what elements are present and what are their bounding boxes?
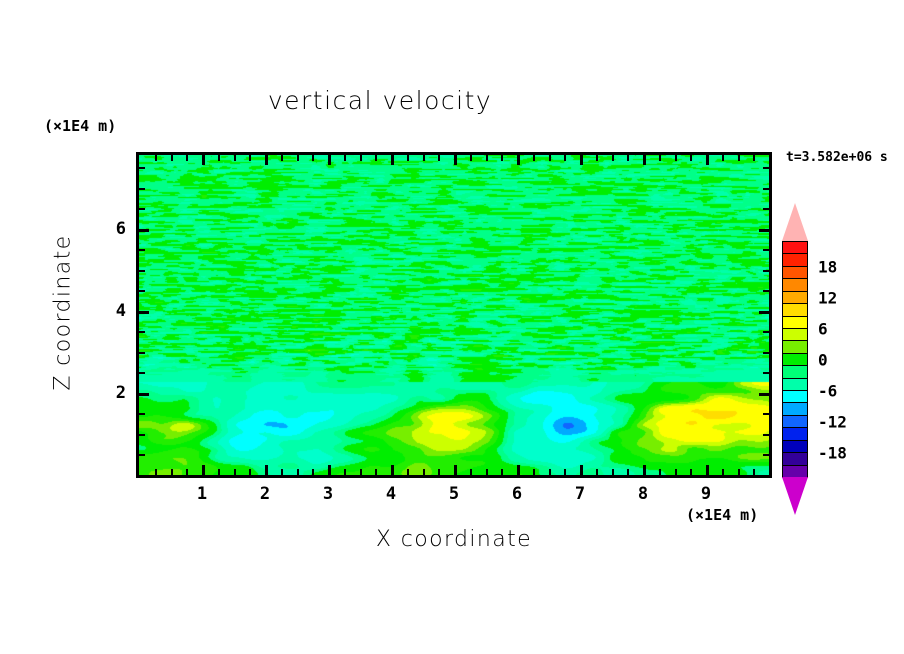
x-tick-top bbox=[281, 155, 283, 161]
x-tick-label-4: 5 bbox=[449, 484, 459, 504]
x-tick-label-7: 8 bbox=[638, 484, 648, 504]
x-tick-bottom bbox=[501, 469, 503, 475]
z-tick-left bbox=[139, 352, 145, 354]
x-tick-top bbox=[470, 155, 472, 161]
z-tick-left bbox=[139, 393, 149, 396]
timestamp-label: t=3.582e+06 s bbox=[786, 150, 888, 165]
colorbar-band-14 bbox=[782, 415, 808, 428]
x-tick-top bbox=[675, 155, 677, 161]
colorbar-band-1 bbox=[782, 253, 808, 266]
colorbar-band-8 bbox=[782, 340, 808, 353]
z-axis-title: Z coordinate bbox=[51, 223, 76, 403]
colorbar-band-12 bbox=[782, 390, 808, 403]
z-tick-right bbox=[763, 208, 769, 210]
z-tick-right bbox=[763, 188, 769, 190]
x-tick-top bbox=[249, 155, 251, 161]
z-tick-left bbox=[139, 167, 145, 169]
colorbar-band-4 bbox=[782, 291, 808, 304]
z-tick-right bbox=[763, 413, 769, 415]
x-tick-bottom bbox=[438, 469, 440, 475]
z-tick-left bbox=[139, 413, 145, 415]
z-tick-right bbox=[763, 331, 769, 333]
z-tick-left bbox=[139, 229, 149, 232]
x-tick-top bbox=[454, 155, 457, 165]
z-tick-right bbox=[763, 270, 769, 272]
x-tick-bottom bbox=[375, 469, 377, 475]
x-tick-bottom bbox=[580, 465, 583, 475]
x-tick-bottom bbox=[234, 469, 236, 475]
colorbar-under-arrow bbox=[782, 477, 808, 515]
colorbar-label-3: 0 bbox=[818, 350, 828, 369]
x-tick-top bbox=[627, 155, 629, 161]
z-tick-left bbox=[139, 311, 149, 314]
x-tick-top bbox=[218, 155, 220, 161]
x-tick-bottom bbox=[549, 469, 551, 475]
colorbar-label-1: 12 bbox=[818, 288, 837, 307]
x-tick-bottom bbox=[297, 469, 299, 475]
x-tick-top bbox=[407, 155, 409, 161]
z-tick-right bbox=[763, 249, 769, 251]
z-axis-unit-label: (×1E4 m) bbox=[44, 117, 116, 135]
x-tick-bottom bbox=[738, 469, 740, 475]
colorbar-label-2: 6 bbox=[818, 319, 828, 338]
z-tick-label-1: 4 bbox=[98, 301, 126, 321]
z-tick-left bbox=[139, 454, 145, 456]
z-tick-left bbox=[139, 270, 145, 272]
x-tick-top bbox=[423, 155, 425, 161]
z-tick-left bbox=[139, 188, 145, 190]
colorbar-band-11 bbox=[782, 378, 808, 391]
x-tick-top bbox=[722, 155, 724, 161]
z-tick-right bbox=[763, 167, 769, 169]
x-tick-top bbox=[738, 155, 740, 161]
x-tick-bottom bbox=[643, 465, 646, 475]
x-tick-bottom bbox=[423, 469, 425, 475]
colorbar-band-9 bbox=[782, 353, 808, 366]
colorbar-band-13 bbox=[782, 402, 808, 415]
colorbar-band-3 bbox=[782, 278, 808, 291]
x-tick-top bbox=[438, 155, 440, 161]
x-tick-label-6: 7 bbox=[575, 484, 585, 504]
colorbar-band-0 bbox=[782, 241, 808, 254]
x-tick-top bbox=[234, 155, 236, 161]
x-tick-bottom bbox=[155, 469, 157, 475]
x-tick-top bbox=[375, 155, 377, 161]
x-tick-bottom bbox=[265, 465, 268, 475]
x-tick-top bbox=[171, 155, 173, 161]
x-tick-top bbox=[706, 155, 709, 165]
colorbar-band-16 bbox=[782, 440, 808, 453]
x-axis-title: X coordinate bbox=[136, 527, 772, 552]
colorbar-band-5 bbox=[782, 303, 808, 316]
x-tick-bottom bbox=[722, 469, 724, 475]
colorbar-band-7 bbox=[782, 328, 808, 341]
x-tick-bottom bbox=[627, 469, 629, 475]
x-tick-bottom bbox=[675, 469, 677, 475]
x-tick-label-0: 1 bbox=[197, 484, 207, 504]
x-tick-bottom bbox=[249, 469, 251, 475]
colorbar-band-6 bbox=[782, 316, 808, 329]
z-tick-label-0: 2 bbox=[98, 383, 126, 403]
x-tick-bottom bbox=[753, 469, 755, 475]
z-tick-right bbox=[759, 311, 769, 314]
colorbar-band-18 bbox=[782, 465, 808, 478]
x-tick-top bbox=[612, 155, 614, 161]
x-tick-top bbox=[155, 155, 157, 161]
colorbar-label-5: -12 bbox=[818, 413, 847, 432]
colorbar-label-6: -18 bbox=[818, 444, 847, 463]
z-tick-right bbox=[759, 393, 769, 396]
x-tick-top bbox=[596, 155, 598, 161]
z-tick-right bbox=[763, 454, 769, 456]
x-tick-top bbox=[360, 155, 362, 161]
colorbar-label-0: 18 bbox=[818, 257, 837, 276]
x-tick-label-8: 9 bbox=[701, 484, 711, 504]
x-tick-bottom bbox=[328, 465, 331, 475]
x-tick-top bbox=[297, 155, 299, 161]
x-tick-top bbox=[344, 155, 346, 161]
z-tick-right bbox=[763, 352, 769, 354]
x-tick-bottom bbox=[533, 469, 535, 475]
x-tick-bottom bbox=[312, 469, 314, 475]
x-tick-top bbox=[753, 155, 755, 161]
colorbar-band-10 bbox=[782, 365, 808, 378]
contour-field bbox=[139, 155, 769, 475]
x-tick-label-5: 6 bbox=[512, 484, 522, 504]
x-tick-top bbox=[533, 155, 535, 161]
x-tick-bottom bbox=[218, 469, 220, 475]
z-tick-right bbox=[763, 372, 769, 374]
x-axis-unit-label: (×1E4 m) bbox=[686, 506, 758, 524]
x-tick-top bbox=[517, 155, 520, 165]
z-tick-left bbox=[139, 372, 145, 374]
z-tick-right bbox=[763, 434, 769, 436]
x-tick-label-1: 2 bbox=[260, 484, 270, 504]
x-tick-top bbox=[265, 155, 268, 165]
z-tick-left bbox=[139, 290, 145, 292]
x-tick-top bbox=[501, 155, 503, 161]
page-title: vertical velocity bbox=[0, 86, 760, 115]
x-tick-bottom bbox=[344, 469, 346, 475]
x-tick-top bbox=[580, 155, 583, 165]
x-tick-bottom bbox=[202, 465, 205, 475]
colorbar bbox=[782, 203, 808, 515]
x-tick-top bbox=[564, 155, 566, 161]
x-tick-top bbox=[202, 155, 205, 165]
x-tick-top bbox=[643, 155, 646, 165]
x-tick-bottom bbox=[470, 469, 472, 475]
x-tick-bottom bbox=[706, 465, 709, 475]
x-tick-top bbox=[186, 155, 188, 161]
colorbar-band-15 bbox=[782, 427, 808, 440]
z-tick-right bbox=[763, 290, 769, 292]
x-tick-bottom bbox=[690, 469, 692, 475]
z-tick-label-2: 6 bbox=[98, 219, 126, 239]
x-tick-top bbox=[549, 155, 551, 161]
x-tick-label-2: 3 bbox=[323, 484, 333, 504]
x-tick-top bbox=[391, 155, 394, 165]
colorbar-band-17 bbox=[782, 452, 808, 465]
colorbar-over-arrow bbox=[782, 203, 808, 241]
x-tick-label-3: 4 bbox=[386, 484, 396, 504]
x-tick-bottom bbox=[612, 469, 614, 475]
z-tick-left bbox=[139, 249, 145, 251]
contour-plot-figure: vertical velocity (×1E4 m) (×1E4 m) X co… bbox=[0, 0, 904, 654]
x-tick-top bbox=[328, 155, 331, 165]
x-tick-bottom bbox=[391, 465, 394, 475]
x-tick-top bbox=[312, 155, 314, 161]
x-tick-top bbox=[690, 155, 692, 161]
x-tick-bottom bbox=[659, 469, 661, 475]
x-tick-bottom bbox=[596, 469, 598, 475]
colorbar-band-2 bbox=[782, 266, 808, 279]
plot-area bbox=[136, 152, 772, 478]
x-tick-bottom bbox=[360, 469, 362, 475]
x-tick-bottom bbox=[407, 469, 409, 475]
x-tick-bottom bbox=[454, 465, 457, 475]
x-tick-bottom bbox=[186, 469, 188, 475]
x-tick-bottom bbox=[564, 469, 566, 475]
x-tick-bottom bbox=[281, 469, 283, 475]
z-tick-left bbox=[139, 434, 145, 436]
z-tick-left bbox=[139, 208, 145, 210]
x-tick-bottom bbox=[517, 465, 520, 475]
x-tick-top bbox=[659, 155, 661, 161]
z-tick-right bbox=[759, 229, 769, 232]
colorbar-label-4: -6 bbox=[818, 381, 837, 400]
x-tick-bottom bbox=[486, 469, 488, 475]
x-tick-top bbox=[486, 155, 488, 161]
x-tick-bottom bbox=[171, 469, 173, 475]
z-tick-left bbox=[139, 331, 145, 333]
